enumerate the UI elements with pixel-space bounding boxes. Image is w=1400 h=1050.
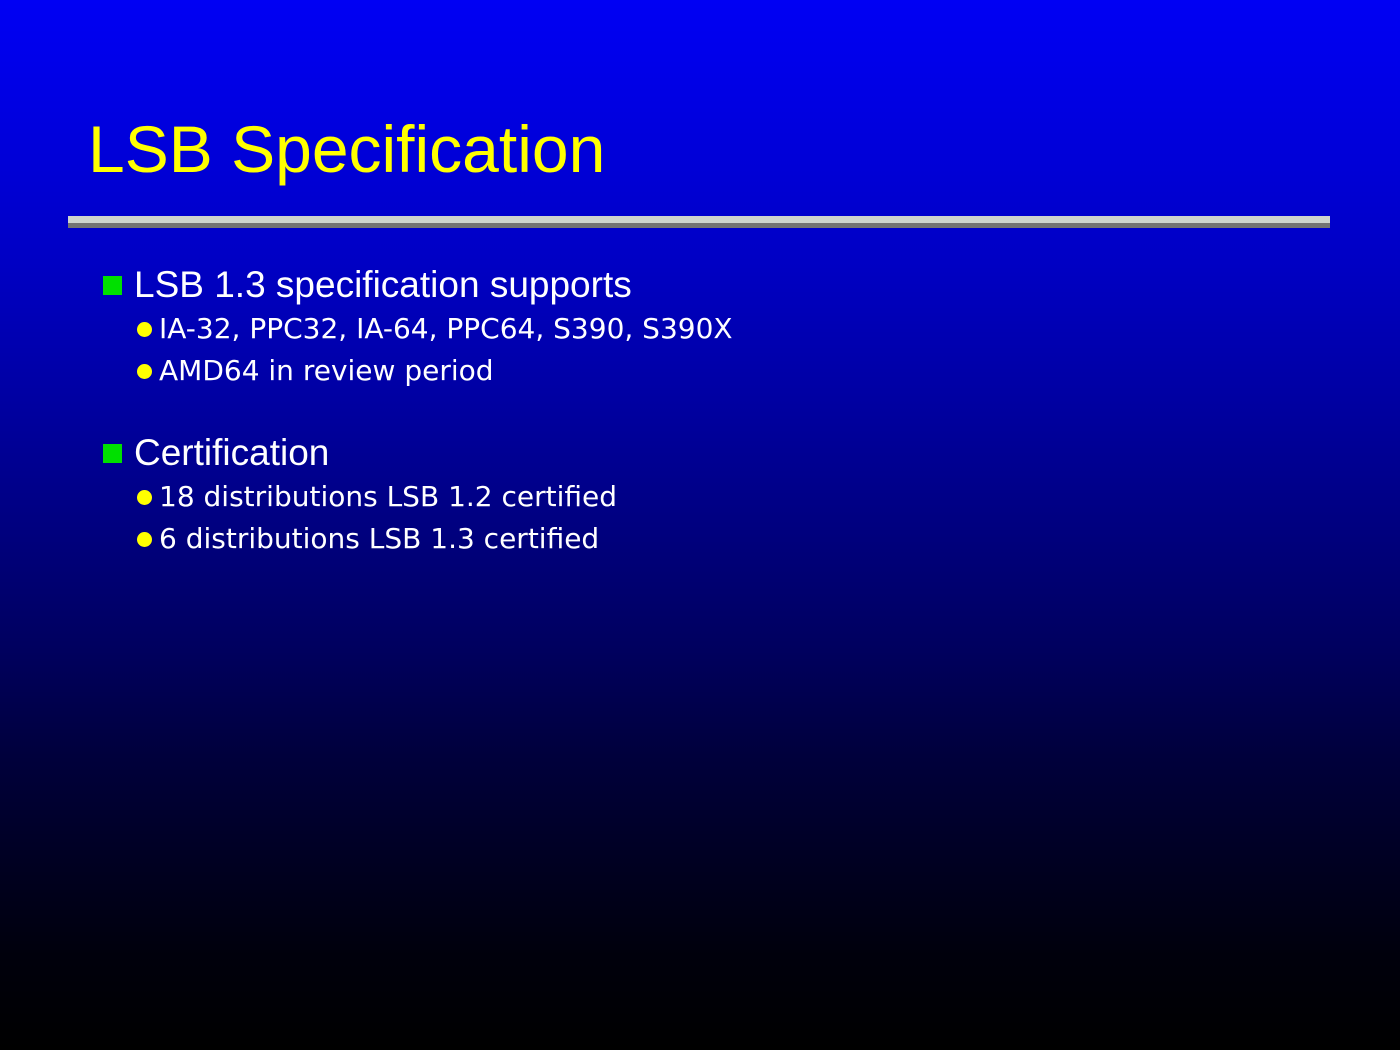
- round-bullet-icon: [137, 532, 152, 547]
- round-bullet-icon: [137, 490, 152, 505]
- level1-bullet-label: LSB 1.3 specification supports: [134, 264, 632, 305]
- slide-body: LSB 1.3 specification supports IA-32, PP…: [0, 262, 1400, 560]
- level2-bullet-item: AMD64 in review period: [0, 350, 1400, 392]
- presentation-slide: LSB Specification LSB 1.3 specification …: [0, 0, 1400, 1050]
- bullet-group: Certification 18 distributions LSB 1.2 c…: [0, 430, 1400, 560]
- level2-bullet-label: 18 distributions LSB 1.2 certified: [159, 480, 617, 513]
- divider-shadow-bar: [68, 223, 1330, 228]
- square-bullet-icon: [103, 276, 122, 295]
- divider-highlight-bar: [68, 216, 1330, 223]
- round-bullet-icon: [137, 322, 152, 337]
- level1-bullet-item: Certification: [0, 430, 1400, 476]
- level1-bullet-item: LSB 1.3 specification supports: [0, 262, 1400, 308]
- level2-bullet-label: IA-32, PPC32, IA-64, PPC64, S390, S390X: [159, 312, 733, 345]
- level2-bullet-label: 6 distributions LSB 1.3 certified: [159, 522, 599, 555]
- bullet-group: LSB 1.3 specification supports IA-32, PP…: [0, 262, 1400, 392]
- level1-bullet-label: Certification: [134, 432, 329, 473]
- title-divider-rule: [68, 216, 1330, 228]
- level2-bullet-item: 18 distributions LSB 1.2 certified: [0, 476, 1400, 518]
- level2-bullet-item: 6 distributions LSB 1.3 certified: [0, 518, 1400, 560]
- level2-bullet-item: IA-32, PPC32, IA-64, PPC64, S390, S390X: [0, 308, 1400, 350]
- level2-bullet-label: AMD64 in review period: [159, 354, 494, 387]
- slide-title: LSB Specification: [88, 116, 1328, 182]
- square-bullet-icon: [103, 444, 122, 463]
- round-bullet-icon: [137, 364, 152, 379]
